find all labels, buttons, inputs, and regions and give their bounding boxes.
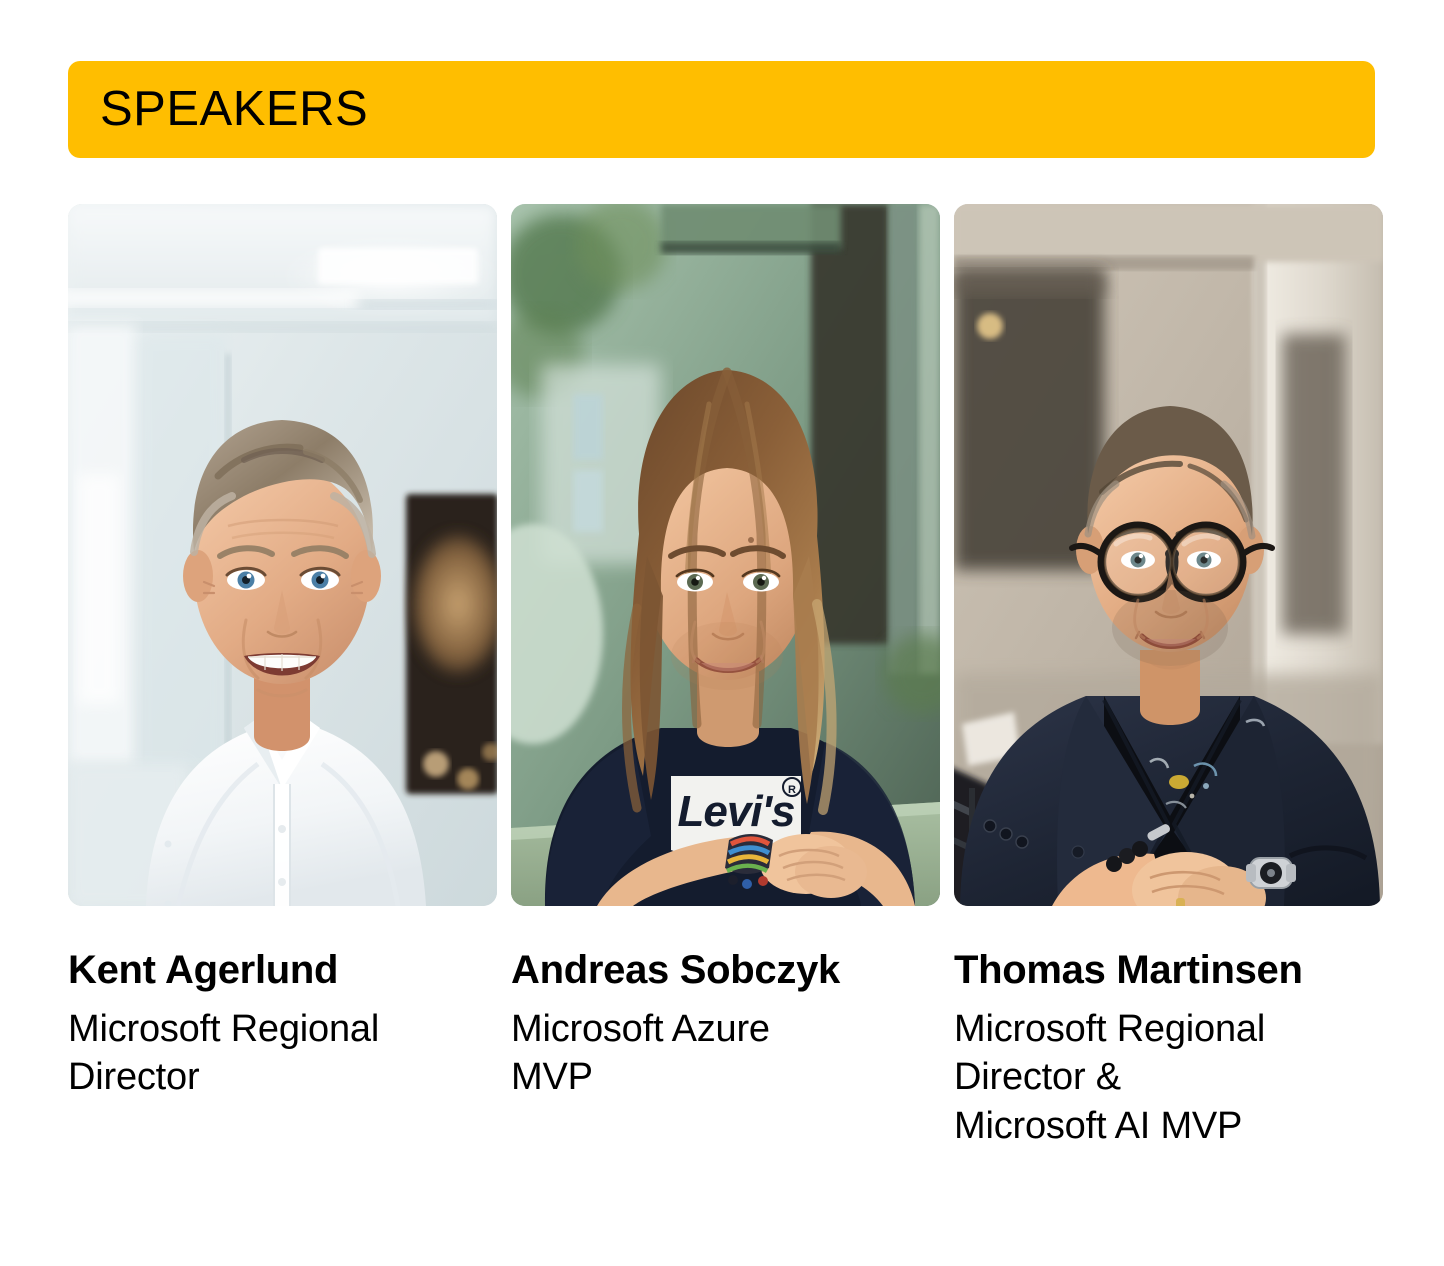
svg-text:R: R [788,784,796,796]
speaker-text-1: Kent Agerlund Microsoft Regional Directo… [68,906,497,1102]
speaker-text-2: Andreas Sobczyk Microsoft Azure MVP [511,906,940,1102]
speakers-slide: SPEAKERS [0,0,1444,1266]
speaker-card-2[interactable]: Levi's R [511,204,940,1151]
speakers-grid: Kent Agerlund Microsoft Regional Directo… [68,204,1375,1151]
speaker-role: Microsoft Regional Director [68,1005,497,1102]
speaker-role: Microsoft Azure MVP [511,1005,940,1102]
speaker-card-1[interactable]: Kent Agerlund Microsoft Regional Directo… [68,204,497,1151]
speaker-card-3[interactable]: Thomas Martinsen Microsoft Regional Dire… [954,204,1383,1151]
speaker-photo-1 [68,204,497,906]
speaker-name: Andreas Sobczyk [511,948,940,993]
speaker-text-3: Thomas Martinsen Microsoft Regional Dire… [954,906,1383,1151]
page-title: SPEAKERS [100,85,368,134]
speaker-photo-3 [954,204,1383,906]
speakers-banner: SPEAKERS [68,61,1375,158]
speaker-name: Thomas Martinsen [954,948,1383,993]
svg-text:Levi's: Levi's [678,787,795,836]
speaker-name: Kent Agerlund [68,948,497,993]
speaker-role: Microsoft Regional Director & Microsoft … [954,1005,1383,1151]
speaker-photo-2: Levi's R [511,204,940,906]
